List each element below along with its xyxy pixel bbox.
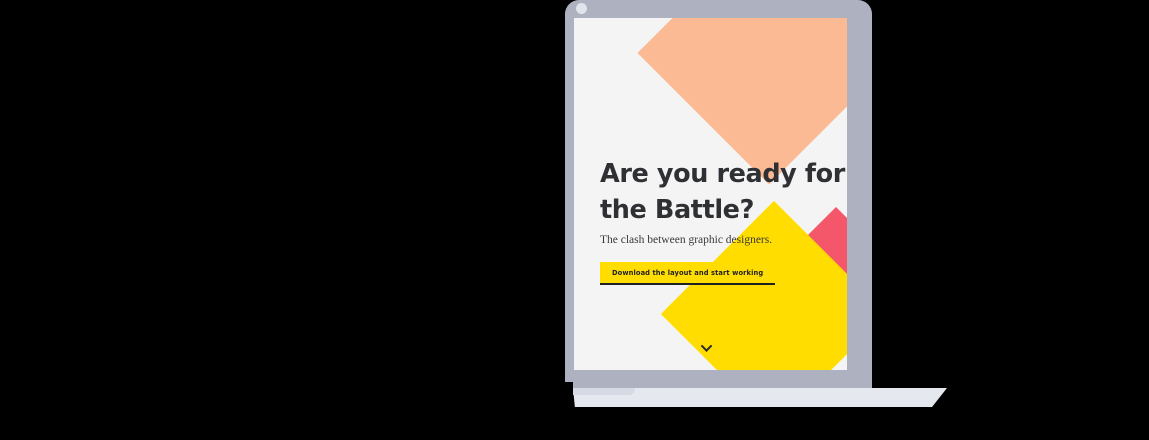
- chevron-down-icon: [701, 345, 712, 352]
- scroll-down-button[interactable]: [698, 340, 714, 356]
- hero-section: Are you ready for the Battle? The clash …: [600, 156, 847, 285]
- cta-container: Download the layout and start working: [600, 262, 847, 285]
- camera-dot-icon: [576, 3, 587, 14]
- screenshot-canvas: Are you ready for the Battle? The clash …: [0, 0, 1149, 440]
- laptop-base-notch: [573, 388, 635, 395]
- hero-subtitle: The clash between graphic designers.: [600, 234, 847, 248]
- laptop-mockup: Are you ready for the Battle? The clash …: [560, 0, 880, 412]
- laptop-screen: Are you ready for the Battle? The clash …: [574, 18, 847, 370]
- laptop-hinge-bar: [573, 370, 872, 388]
- page-title: Are you ready for the Battle?: [600, 156, 847, 228]
- download-layout-button[interactable]: Download the layout and start working: [600, 262, 775, 285]
